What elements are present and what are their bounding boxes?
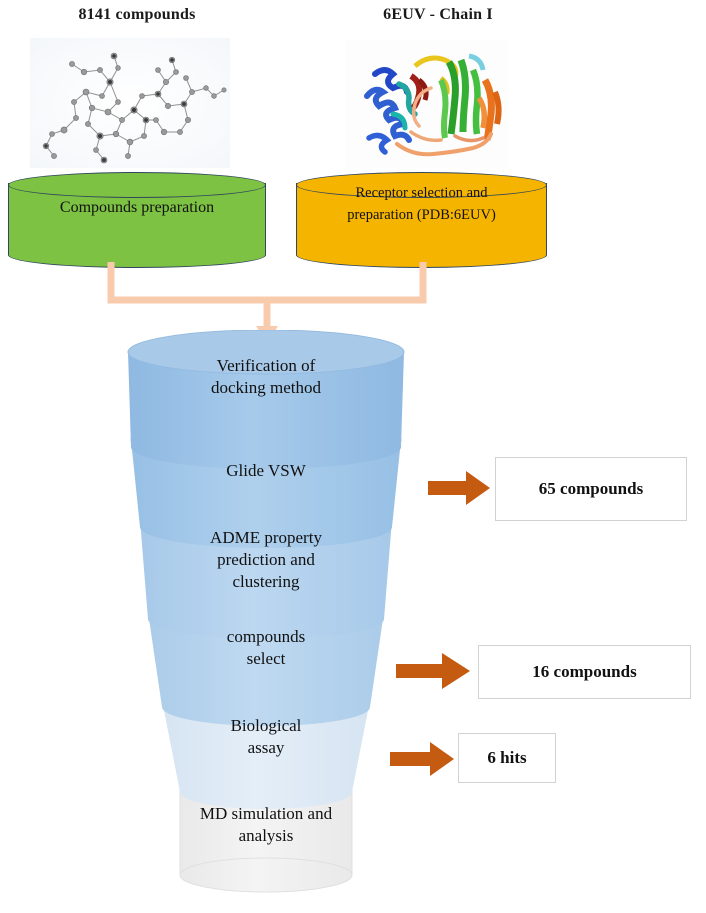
receptor-label-line1: Receptor selection and	[302, 182, 541, 204]
protein-ribbon-image	[345, 40, 508, 168]
result-box-6-hits: 6 hits	[458, 733, 556, 783]
result-box-65-compounds: 65 compounds	[495, 457, 687, 521]
receptor-label-line2: preparation (PDB:6EUV)	[302, 204, 541, 226]
workflow-diagram: 8141 compounds 6EUV - Chain I	[0, 0, 706, 913]
arrow-to-65-compounds	[428, 468, 490, 508]
molecule-structure-image	[30, 38, 230, 168]
result-box-16-compounds: 16 compounds	[478, 645, 691, 699]
receptor-column-header: 6EUV - Chain I	[318, 6, 558, 24]
arrow-to-6-hits	[390, 740, 454, 778]
cylinder-top-ellipse	[8, 172, 266, 198]
receptor-preparation-cylinder: Receptor selection and preparation (PDB:…	[296, 172, 547, 268]
funnel-stack	[0, 330, 706, 913]
compounds-preparation-cylinder: Compounds preparation	[8, 172, 266, 268]
compounds-column-header: 8141 compounds	[12, 6, 262, 24]
compounds-preparation-label: Compounds preparation	[14, 196, 260, 221]
receptor-preparation-label: Receptor selection and preparation (PDB:…	[302, 182, 541, 227]
arrow-to-16-compounds	[396, 650, 470, 692]
